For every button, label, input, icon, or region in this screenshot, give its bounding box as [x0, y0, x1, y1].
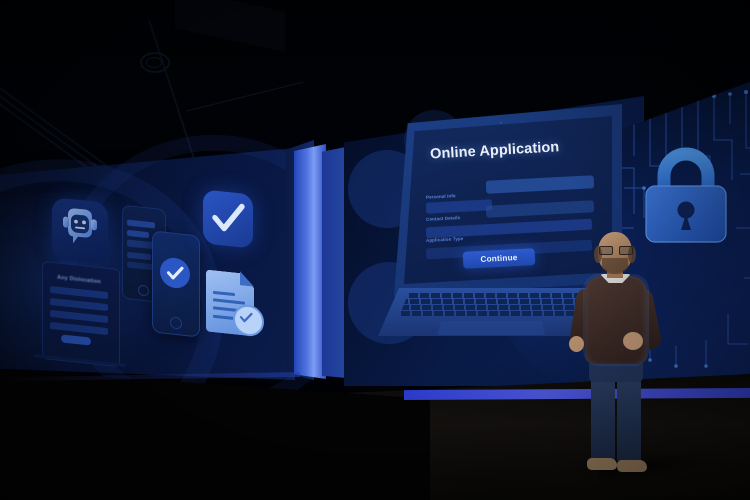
- continue-button-label: Continue: [480, 253, 517, 264]
- stage-light-column: [294, 144, 326, 379]
- presenter-hand-left: [569, 336, 584, 352]
- phone-home-button: [138, 284, 149, 296]
- chatbot-icon: [52, 197, 108, 264]
- presenter: [565, 232, 665, 480]
- presenter-leg-right: [617, 374, 641, 462]
- webcam-icon: [500, 122, 502, 124]
- checkmark-badge-icon: [203, 189, 253, 248]
- laptop-trackpad: [437, 321, 545, 335]
- presenter-rim-light: [583, 274, 649, 366]
- presenter-leg-left: [591, 374, 615, 462]
- phone-home-button: [170, 316, 182, 329]
- rig-housing: [175, 0, 285, 52]
- presenter-shoe-right: [617, 460, 647, 472]
- rig-cable: [187, 81, 304, 111]
- stage-scene: Any Dislocation: [0, 0, 750, 500]
- presenter-hand-right: [623, 332, 643, 350]
- presenter-glasses-icon: [599, 246, 631, 253]
- stage-floor-shadow: [0, 370, 430, 500]
- presenter-beard: [602, 258, 628, 274]
- stage-light-inner: [146, 57, 162, 68]
- stage-column-side: [322, 147, 346, 378]
- presenter-shoe-left: [587, 458, 617, 470]
- circle-check-icon: [160, 256, 190, 289]
